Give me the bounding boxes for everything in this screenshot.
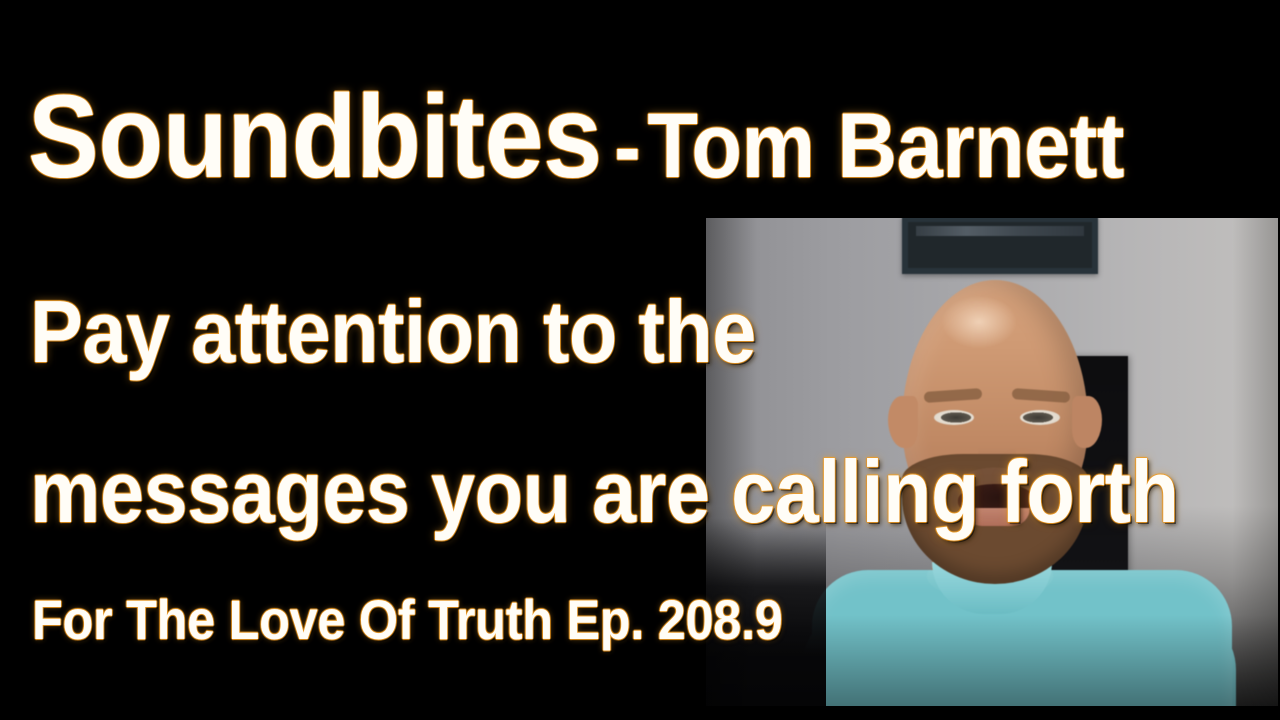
ear-right <box>1072 396 1102 448</box>
headline-line-1: Pay attention to the <box>30 288 756 376</box>
title-show-name: Soundbites <box>28 78 602 196</box>
thumbnail-canvas: Soundbites - Tom Barnett Pay attention t… <box>0 0 1280 720</box>
eye-left <box>934 410 974 425</box>
headline-line-2: messages you are calling forth <box>30 448 1179 536</box>
title-guest-name: Tom Barnett <box>642 100 1124 192</box>
thumbnail-title: Soundbites - Tom Barnett <box>28 78 1124 196</box>
eye-right <box>1020 410 1060 425</box>
video-bottom-letterbox <box>706 706 1278 714</box>
ear-left <box>888 396 918 448</box>
title-separator: - <box>602 103 642 191</box>
episode-caption: For The Love Of Truth Ep. 208.9 <box>32 592 783 648</box>
head-highlight <box>942 296 1016 348</box>
